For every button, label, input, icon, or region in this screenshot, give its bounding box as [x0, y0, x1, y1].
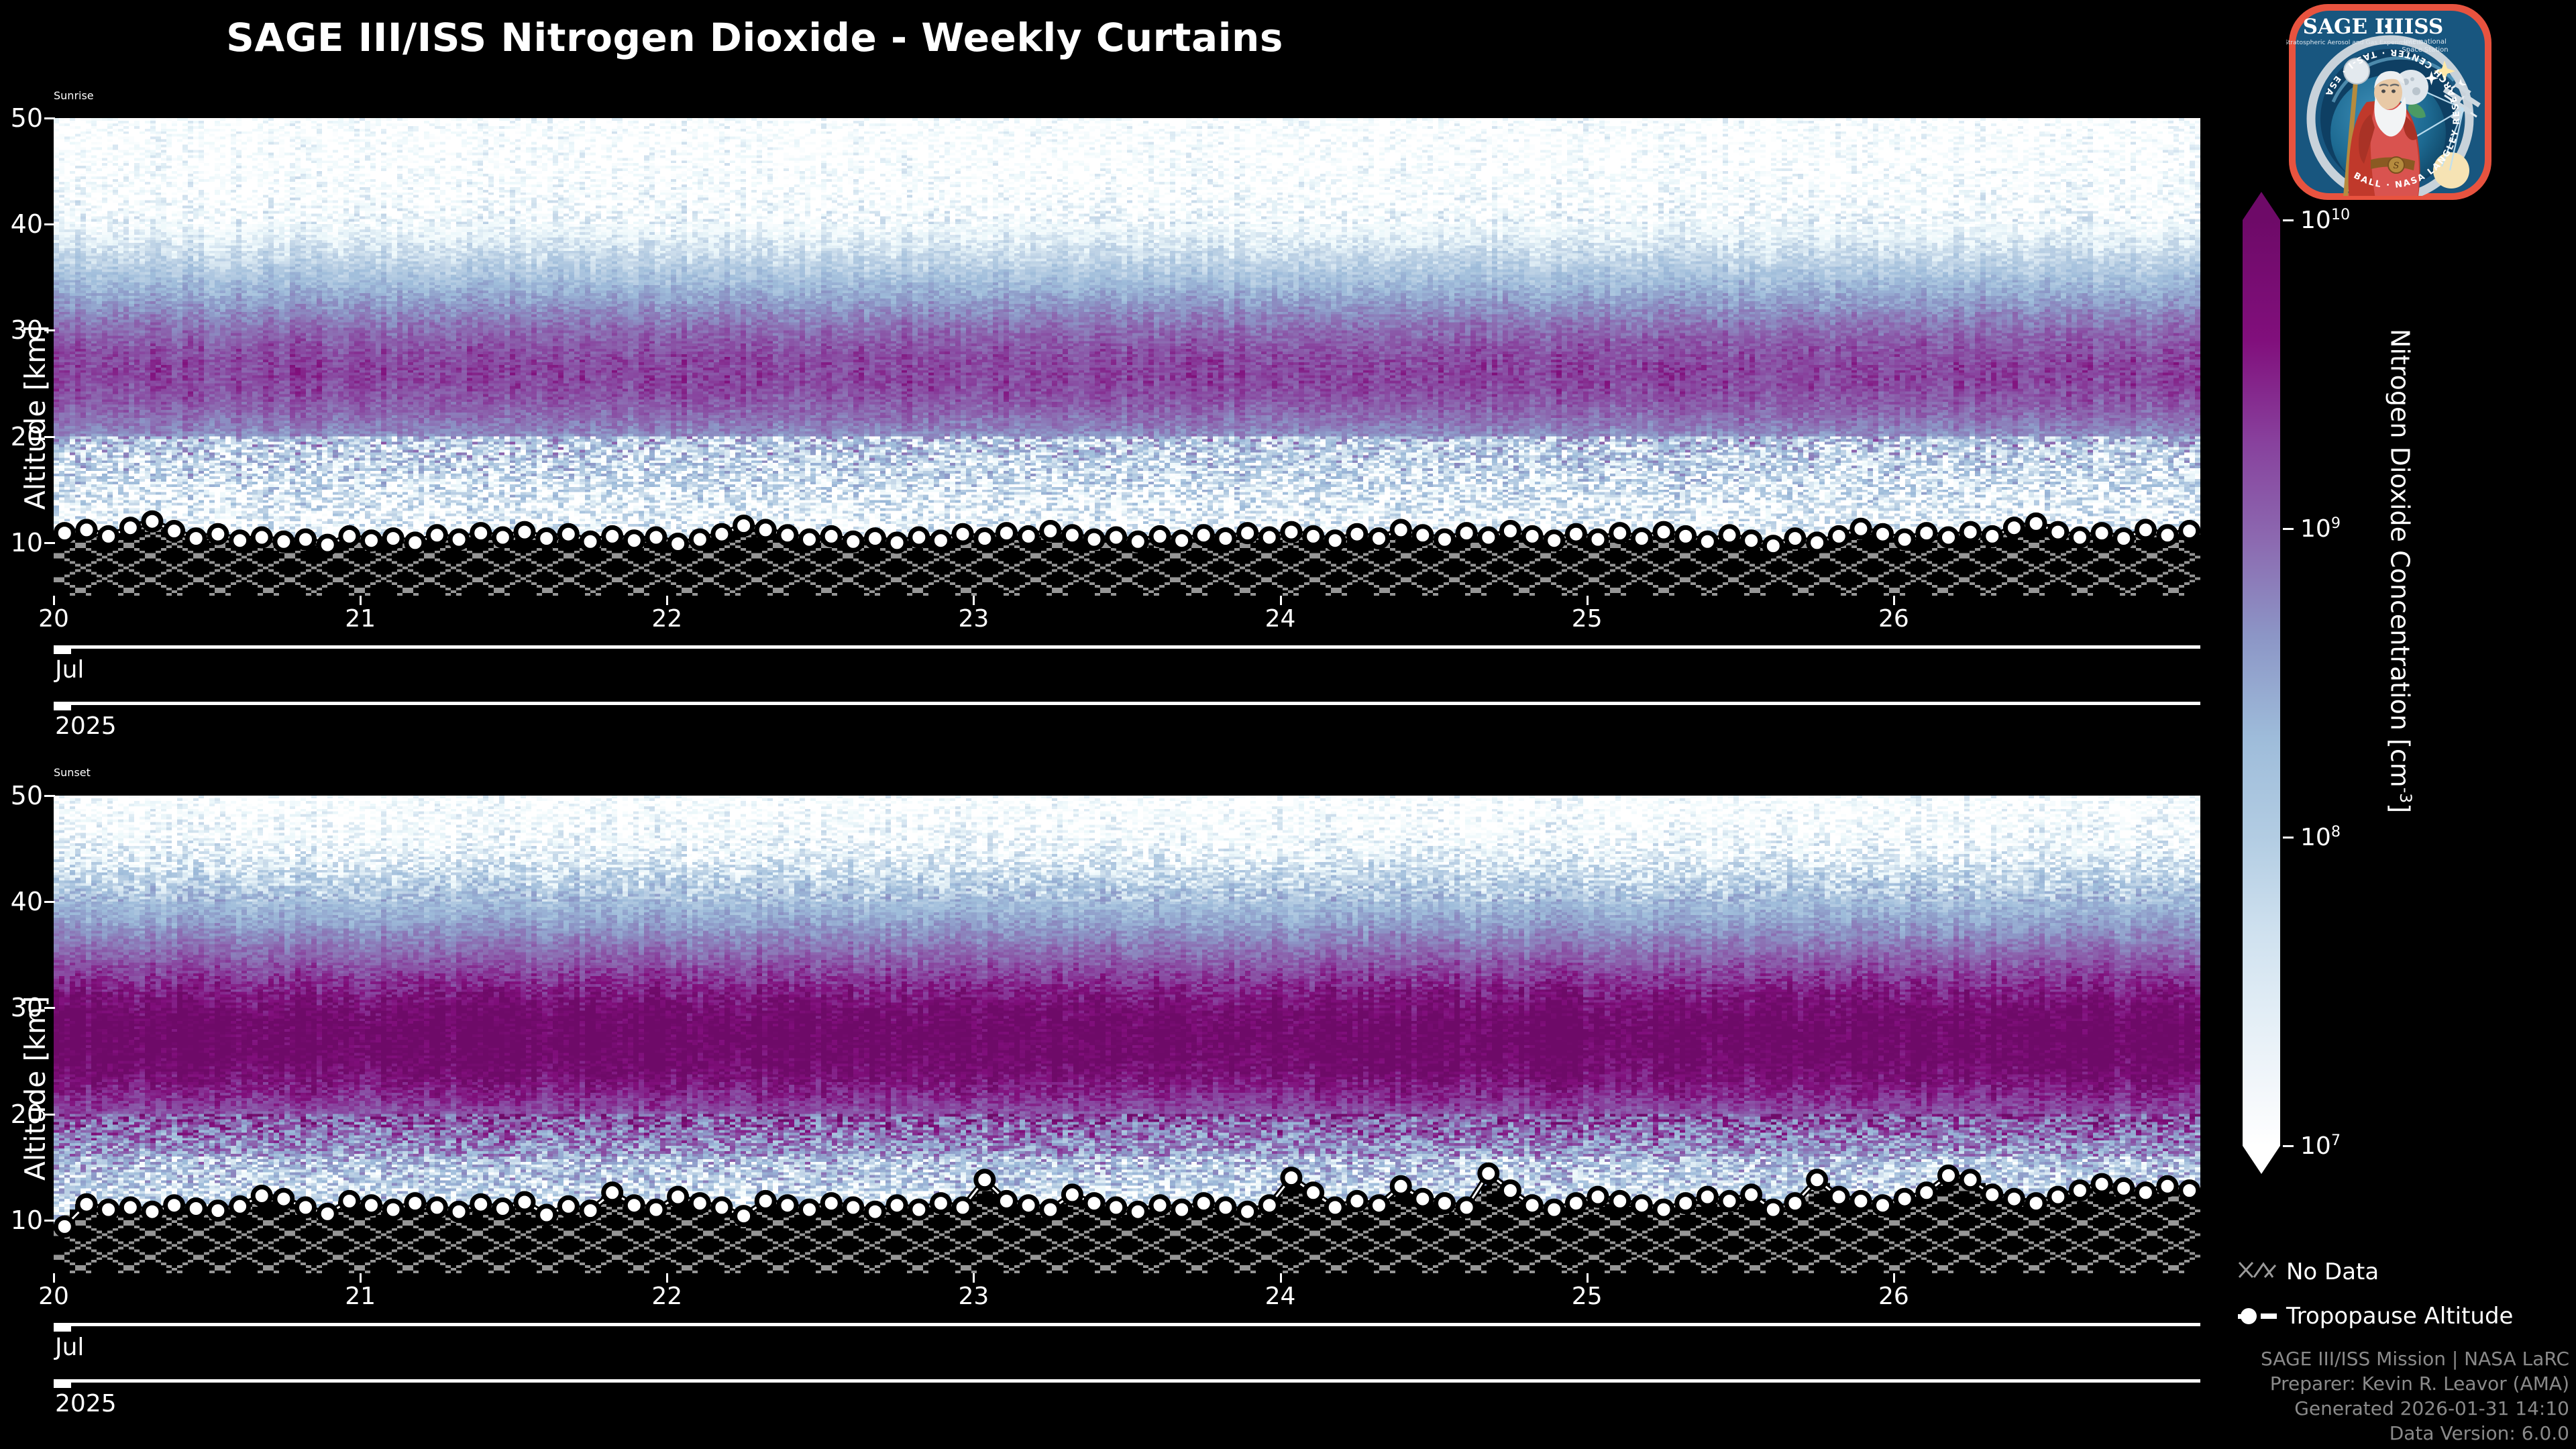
tropopause-marker [275, 1190, 292, 1207]
x-tick-mark [1893, 596, 1895, 605]
tropopause-marker [253, 529, 270, 546]
tropopause-marker [2093, 525, 2110, 542]
panel-title-sunrise: Sunrise [54, 89, 2200, 102]
tropopause-marker [867, 1203, 884, 1220]
logo-title-iss: ISS [2404, 15, 2444, 39]
tropopause-marker [516, 1193, 533, 1211]
y-tick-label: 40 [0, 887, 43, 916]
tropopause-marker [1501, 523, 1519, 540]
tropopause-marker [2137, 1184, 2154, 1201]
tropopause-marker [1567, 525, 1585, 543]
tropopause-marker [450, 1203, 468, 1220]
tropopause-marker [363, 1197, 380, 1214]
legend-item-tropopause[interactable]: Tropopause Altitude [2238, 1299, 2576, 1334]
tropopause-marker [669, 1188, 687, 1205]
tropopause-marker [1918, 525, 1935, 542]
tropopause-marker [998, 1192, 1015, 1210]
tropopause-marker [1523, 1197, 1541, 1214]
tropopause-marker [1984, 527, 2001, 545]
tropopause-marker [1743, 1186, 1760, 1203]
x-tick-mark [666, 1273, 668, 1283]
tropopause-marker [2181, 1182, 2198, 1199]
tropopause-marker [1546, 1201, 1563, 1218]
tropopause-marker [625, 1197, 643, 1214]
logo-subtitle-right-1: International [2404, 38, 2447, 46]
tropopause-marker [1611, 525, 1629, 542]
tropopause-marker [1458, 525, 1475, 542]
tropopause-marker [779, 527, 796, 544]
tropopause-marker [100, 1201, 117, 1218]
tropopause-marker [2071, 529, 2088, 546]
tropopause-marker [1063, 527, 1081, 544]
tropopause-marker [1260, 1197, 1278, 1214]
month-band-line-sunset [54, 1323, 2200, 1326]
tropopause-marker [1962, 1171, 1979, 1189]
tropopause-marker [472, 525, 490, 542]
tropopause-marker [647, 529, 665, 546]
colorbar-tick-label: 108 [2300, 823, 2341, 851]
tropopause-marker [2027, 515, 2045, 532]
page-title: SAGE III/ISS Nitrogen Dioxide - Weekly C… [0, 15, 1509, 60]
x-tick-label: 25 [1572, 605, 1603, 633]
x-tick-mark [666, 596, 668, 605]
tropopause-marker [1108, 529, 1125, 546]
tropopause-marker [691, 1195, 708, 1212]
tropopause-marker [297, 531, 315, 548]
tropopause-marker [845, 1199, 862, 1216]
tropopause-marker [801, 1201, 818, 1218]
tropopause-marker [121, 519, 139, 537]
tropopause-marker [2181, 523, 2198, 540]
tropopause-marker [582, 1202, 599, 1220]
y-tick-label: 40 [0, 209, 43, 239]
tropopause-marker [1392, 1177, 1409, 1195]
colorbar-tick-mark [2283, 837, 2294, 839]
x-tick-label: 21 [345, 605, 376, 633]
x-tick-mark [360, 1273, 362, 1283]
y-tick-mark [44, 542, 55, 544]
tropopause-marker [2115, 1179, 2133, 1197]
footer-line-generated: Generated 2026-01-31 14:10 [2261, 1397, 2569, 1421]
tropopause-marker [910, 1201, 928, 1218]
colorbar-tick-mark [2283, 1145, 2294, 1147]
tropopause-marker [1042, 523, 1059, 540]
tropopause-marker [1589, 1188, 1607, 1205]
tropopause-marker [1896, 531, 1913, 548]
tropopause-marker [1392, 521, 1409, 539]
heatmap-sunset[interactable] [54, 796, 2200, 1273]
y-tick-mark [44, 1114, 55, 1116]
colorbar-tick-label: 107 [2300, 1132, 2341, 1160]
tropopause-marker [1151, 1197, 1169, 1214]
tropopause-marker [1852, 520, 1870, 537]
x-tick-label: 22 [651, 605, 682, 633]
tropopause-marker [1764, 1201, 1782, 1218]
tropopause-marker [2049, 523, 2067, 541]
tropopause-marker [1655, 1201, 1672, 1218]
tropopause-marker [1699, 1188, 1716, 1205]
tropopause-marker [1173, 532, 1191, 549]
tropopause-marker [363, 532, 380, 549]
tropopause-marker [1326, 1199, 1344, 1216]
tropopause-marker [2093, 1175, 2110, 1193]
footer-credits: SAGE III/ISS Mission | NASA LaRC Prepare… [2261, 1347, 2569, 1446]
tropopause-marker [1874, 525, 1892, 543]
tropopause-marker [1852, 1192, 1870, 1210]
x-tick-label: 20 [38, 605, 69, 633]
tropopause-marker [2115, 530, 2133, 547]
x-tick-mark [1587, 596, 1589, 605]
tropopause-marker [538, 530, 555, 547]
tropopause-overlay [54, 118, 2200, 596]
tropopause-marker [559, 1197, 577, 1215]
y-tick-label: 10 [0, 1205, 43, 1235]
y-tick-label: 10 [0, 528, 43, 557]
tropopause-marker [1129, 1203, 1146, 1220]
tropopause-marker [1633, 530, 1650, 547]
tropopause-marker [867, 530, 884, 547]
y-tick-mark [44, 223, 55, 225]
tropopause-marker [1085, 531, 1103, 548]
x-tick-mark [973, 596, 975, 605]
tropopause-marker [2159, 527, 2176, 544]
tropopause-marker [1480, 1165, 1497, 1182]
tropopause-marker [384, 530, 402, 547]
tropopause-marker [1371, 530, 1388, 547]
tropopause-marker [1830, 1188, 1847, 1205]
tropopause-marker [822, 1195, 840, 1212]
tropopause-marker [1283, 1169, 1300, 1187]
year-band-label-sunrise: 2025 [55, 712, 117, 740]
tropopause-marker [1283, 523, 1300, 541]
tropopause-marker [1655, 523, 1672, 541]
sage-iii-iss-mission-patch: S BALL · NASA LANGLEY RESEARCH CENTER · … [2286, 1, 2494, 203]
tropopause-marker [1260, 529, 1278, 546]
tropopause-marker [757, 521, 774, 539]
tropopause-marker [604, 527, 621, 545]
tropopause-marker [1523, 527, 1541, 545]
tropopause-marker [1786, 530, 1804, 547]
tropopause-marker [1962, 523, 1979, 541]
tropopause-marker [1546, 532, 1563, 549]
tropopause-marker [231, 532, 249, 549]
tropopause-marker [1217, 530, 1234, 547]
tropopause-marker [1063, 1186, 1081, 1203]
year-band-line-sunset [54, 1379, 2200, 1383]
tropopause-marker [78, 1195, 95, 1213]
logo-title-dot: · [2383, 15, 2391, 39]
x-tick-label: 21 [345, 1283, 376, 1310]
tropopause-marker [2005, 1190, 2023, 1207]
tropopause-marker [1984, 1186, 2001, 1203]
y-tick-mark [44, 901, 55, 903]
tropopause-marker [1633, 1197, 1650, 1214]
tropopause-marker [1020, 1197, 1037, 1214]
tropopause-marker [1458, 1199, 1475, 1216]
year-band-cap-sunset [54, 1379, 71, 1388]
colorbar-arrow-top [2243, 192, 2280, 220]
tropopause-marker [407, 534, 424, 551]
tropopause-marker [954, 1199, 971, 1216]
tropopause-marker [779, 1197, 796, 1214]
month-band-label-sunrise: Jul [55, 656, 84, 684]
tropopause-marker [231, 1197, 249, 1215]
tropopause-marker [647, 1201, 665, 1218]
tropopause-marker [2159, 1177, 2176, 1195]
tropopause-marker [450, 531, 468, 548]
y-tick-mark [44, 1220, 55, 1222]
tropopause-marker [1809, 534, 1826, 551]
tropopause-marker [1940, 529, 1957, 546]
tropopause-marker [494, 529, 511, 546]
tropopause-marker [384, 1201, 402, 1218]
tropopause-marker [144, 1203, 161, 1220]
y-tick-mark [44, 1007, 55, 1009]
tropopause-marker [1326, 532, 1344, 549]
tropopause-marker [1896, 1190, 1913, 1207]
tropopause-marker [253, 1187, 270, 1205]
tropopause-marker [976, 1171, 994, 1189]
tropopause-marker [407, 1195, 424, 1212]
colorbar-tick-mark [2283, 219, 2294, 221]
x-tick-mark [1280, 1273, 1282, 1283]
tropopause-marker [100, 527, 117, 545]
tropopause-marker [1786, 1195, 1804, 1212]
tropopause-marker [998, 525, 1015, 542]
x-tick-mark [360, 596, 362, 605]
tropopause-marker [2137, 521, 2154, 539]
tropopause-marker [910, 529, 928, 546]
tropopause-marker [1436, 531, 1454, 548]
tropopause-marker [275, 533, 292, 550]
tropopause-marker-icon [2238, 1301, 2281, 1331]
tropopause-marker [2005, 519, 2023, 537]
y-tick-label: 50 [0, 103, 43, 133]
y-tick-label: 30 [0, 315, 43, 345]
tropopause-marker [1501, 1182, 1519, 1199]
legend-label-tropopause: Tropopause Altitude [2286, 1303, 2513, 1330]
tropopause-marker [1217, 1199, 1234, 1216]
tropopause-marker [1611, 1192, 1629, 1210]
tropopause-marker [494, 1200, 511, 1218]
legend-label-no-data: No Data [2286, 1258, 2379, 1285]
y-tick-mark [44, 436, 55, 438]
tropopause-marker [691, 531, 708, 548]
tropopause-marker [845, 533, 862, 550]
y-tick-label: 20 [0, 422, 43, 451]
y-tick-mark [44, 795, 55, 797]
tropopause-marker [932, 532, 949, 549]
footer-line-version: Data Version: 6.0.0 [2261, 1421, 2569, 1446]
tropopause-marker [1151, 527, 1169, 545]
x-tick-label: 23 [959, 1283, 989, 1310]
month-band-cap-sunrise [54, 645, 71, 654]
tropopause-marker [297, 1199, 315, 1216]
tropopause-marker [801, 531, 818, 548]
tropopause-marker [1371, 1197, 1388, 1214]
x-tick-mark [53, 596, 55, 605]
tropopause-marker [2071, 1182, 2088, 1199]
colorbar-tick-label: 109 [2300, 515, 2341, 543]
x-tick-mark [1587, 1273, 1589, 1283]
colorbar-tick-mark [2283, 528, 2294, 530]
tropopause-marker [1677, 1195, 1695, 1212]
tropopause-marker [1764, 537, 1782, 555]
tropopause-marker [319, 536, 336, 553]
tropopause-marker [319, 1205, 336, 1222]
y-tick-label: 50 [0, 781, 43, 810]
x-tick-mark [1893, 1273, 1895, 1283]
y-tick-label: 20 [0, 1099, 43, 1129]
y-tick-label: 30 [0, 993, 43, 1022]
tropopause-marker [166, 1197, 183, 1214]
tropopause-marker [1830, 527, 1847, 545]
tropopause-marker [1305, 527, 1322, 545]
y-tick-mark [44, 117, 55, 119]
tropopause-marker [1195, 1195, 1212, 1212]
year-band-label-sunset: 2025 [55, 1390, 117, 1417]
tropopause-marker [1567, 1195, 1585, 1212]
x-tick-label: 24 [1265, 1283, 1296, 1310]
tropopause-marker [1305, 1184, 1322, 1201]
heatmap-sunrise[interactable] [54, 118, 2200, 596]
tropopause-marker [78, 521, 95, 539]
tropopause-marker [625, 532, 643, 549]
hatch-x-icon [2238, 1257, 2281, 1287]
tropopause-marker [428, 1199, 445, 1216]
colorbar-gradient[interactable] [2243, 220, 2280, 1146]
tropopause-marker [1918, 1184, 1935, 1201]
tropopause-marker [1195, 527, 1212, 544]
year-band-line-sunrise [54, 702, 2200, 705]
tropopause-marker [954, 525, 971, 543]
tropopause-marker [1480, 529, 1497, 546]
legend-item-no-data[interactable]: No Data [2238, 1254, 2560, 1289]
tropopause-marker [56, 525, 73, 542]
tropopause-marker [1414, 527, 1432, 544]
tropopause-marker [2049, 1188, 2067, 1205]
tropopause-marker [713, 1199, 731, 1216]
tropopause-marker [888, 1197, 906, 1214]
x-tick-label: 23 [959, 605, 989, 633]
x-tick-label: 26 [1878, 1283, 1909, 1310]
x-tick-label: 25 [1572, 1283, 1603, 1310]
tropopause-marker [1589, 531, 1607, 548]
tropopause-marker [1239, 525, 1256, 542]
tropopause-marker [713, 525, 731, 543]
tropopause-marker [1173, 1201, 1191, 1218]
tropopause-marker [976, 530, 994, 547]
x-tick-label: 26 [1878, 605, 1909, 633]
tropopause-marker [428, 527, 445, 544]
tropopause-marker [1436, 1195, 1454, 1212]
panel-title-sunset: Sunset [54, 766, 2200, 779]
tropopause-marker [166, 523, 183, 540]
logo-subtitle-left: Stratospheric Aerosol and Gas Experiment… [2286, 39, 2422, 46]
tropopause-marker [1348, 525, 1366, 543]
tropopause-marker [1020, 527, 1037, 545]
tropopause-marker [669, 535, 687, 553]
tropopause-marker [1129, 533, 1146, 550]
month-band-label-sunset: Jul [55, 1334, 84, 1361]
tropopause-marker [559, 525, 577, 543]
tropopause-marker [1699, 533, 1716, 550]
tropopause-marker [1042, 1201, 1059, 1218]
tropopause-marker [1348, 1192, 1366, 1210]
x-tick-label: 20 [38, 1283, 69, 1310]
x-tick-label: 22 [651, 1283, 682, 1310]
tropopause-marker [1721, 1192, 1738, 1210]
tropopause-marker [757, 1192, 774, 1210]
tropopause-marker [1743, 532, 1760, 549]
tropopause-marker [341, 1192, 358, 1210]
tropopause-marker [2027, 1195, 2045, 1212]
tropopause-marker [56, 1218, 73, 1235]
tropopause-marker [1721, 527, 1738, 544]
colorbar-arrow-bottom [2243, 1146, 2280, 1174]
tropopause-marker [187, 530, 205, 547]
tropopause-marker [209, 525, 227, 543]
tropopause-marker [822, 527, 840, 545]
tropopause-marker [1940, 1167, 1957, 1184]
tropopause-overlay [54, 796, 2200, 1273]
tropopause-marker [472, 1195, 490, 1213]
tropopause-marker [1414, 1190, 1432, 1207]
tropopause-marker [209, 1202, 227, 1220]
colorbar-tick-label: 1010 [2300, 206, 2350, 234]
tropopause-marker [1809, 1171, 1826, 1189]
tropopause-marker [888, 534, 906, 551]
tropopause-marker [1874, 1197, 1892, 1214]
month-band-cap-sunset [54, 1323, 71, 1332]
tropopause-marker [1677, 527, 1695, 545]
footer-line-preparer: Preparer: Kevin R. Leavor (AMA) [2261, 1372, 2569, 1397]
tropopause-marker [121, 1199, 139, 1216]
tropopause-marker [1108, 1199, 1125, 1216]
logo-subtitle-right-2: Space Station [2402, 46, 2448, 54]
tropopause-marker [932, 1195, 949, 1212]
tropopause-marker [735, 1207, 753, 1225]
y-tick-mark [44, 329, 55, 331]
x-tick-mark [53, 1273, 55, 1283]
year-band-cap-sunrise [54, 702, 71, 710]
footer-line-mission: SAGE III/ISS Mission | NASA LaRC [2261, 1347, 2569, 1372]
tropopause-marker [582, 533, 599, 550]
x-tick-mark [973, 1273, 975, 1283]
tropopause-marker [341, 527, 358, 545]
x-tick-mark [1280, 596, 1282, 605]
x-tick-label: 24 [1265, 605, 1296, 633]
tropopause-marker [1085, 1195, 1103, 1212]
tropopause-marker [1239, 1203, 1256, 1220]
tropopause-marker [538, 1206, 555, 1224]
svg-text:S: S [2394, 161, 2400, 171]
tropopause-marker [735, 517, 753, 535]
tropopause-marker [604, 1184, 621, 1201]
tropopause-marker [144, 513, 161, 530]
tropopause-marker [187, 1200, 205, 1218]
month-band-line-sunrise [54, 645, 2200, 649]
tropopause-marker [516, 523, 533, 541]
